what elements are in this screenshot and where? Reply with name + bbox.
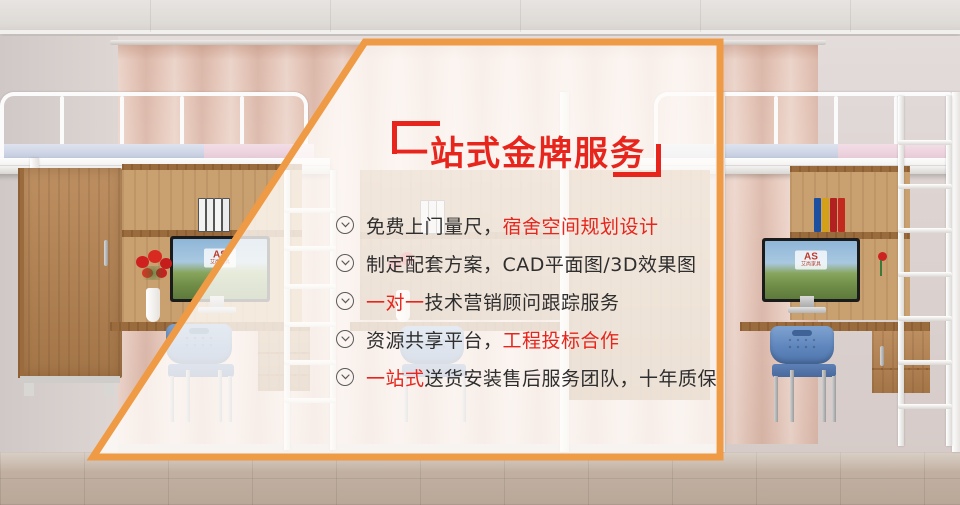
list-item-text-normal-a: 免费上门量尺， xyxy=(366,216,503,238)
service-list: 免费上门量尺，宿舍空间规划设计 制定配套方案，CAD平面图/3D效果图 一对一技… xyxy=(336,206,756,396)
list-item-text: 免费上门量尺，宿舍空间规划设计 xyxy=(366,212,659,239)
chevron-down-circle-icon xyxy=(336,368,354,386)
bracket-bottom-right-vertical-icon xyxy=(656,144,661,177)
banner-content: 一站式金牌服务 免费上门量尺，宿舍空间规划设计 制定配套方案，CAD平面图/3D… xyxy=(336,110,736,186)
chevron-down-circle-icon xyxy=(336,292,354,310)
chevron-down-circle-icon xyxy=(336,216,354,234)
page-title: 一站式金牌服务 xyxy=(394,126,646,175)
list-item: 资源共享平台，工程投标合作 xyxy=(336,320,756,358)
list-item-text-highlight: 一对一 xyxy=(366,292,425,314)
list-item: 一对一技术营销顾问跟踪服务 xyxy=(336,282,756,320)
service-banner: AS 艾尚家具 xyxy=(0,0,960,505)
list-item-text-normal-b: 技术营销顾问跟踪服务 xyxy=(425,292,620,314)
list-item-text-normal-a: 资源共享平台， xyxy=(366,330,503,352)
list-item: 制定配套方案，CAD平面图/3D效果图 xyxy=(336,244,756,282)
list-item-text: 一对一技术营销顾问跟踪服务 xyxy=(366,288,620,315)
list-item-text: 一站式送货安装售后服务团队，十年质保 xyxy=(366,364,717,391)
list-item-text-highlight: 一站式 xyxy=(366,368,425,390)
chevron-down-circle-icon xyxy=(336,330,354,348)
list-item-text: 制定配套方案，CAD平面图/3D效果图 xyxy=(366,250,697,277)
list-item-text: 资源共享平台，工程投标合作 xyxy=(366,326,620,353)
list-item-text-highlight: 工程投标合作 xyxy=(503,330,620,352)
list-item-text-normal-b: 送货安装售后服务团队，十年质保 xyxy=(425,368,718,390)
bracket-bottom-right-horizontal-icon xyxy=(613,172,661,177)
title-block: 一站式金牌服务 xyxy=(336,110,736,186)
list-item-text-normal-a: 制定配套方案，CAD平面图/3D效果图 xyxy=(366,254,697,276)
list-item: 免费上门量尺，宿舍空间规划设计 xyxy=(336,206,756,244)
chevron-down-circle-icon xyxy=(336,254,354,272)
list-item: 一站式送货安装售后服务团队，十年质保 xyxy=(336,358,756,396)
list-item-text-highlight: 宿舍空间规划设计 xyxy=(503,216,659,238)
